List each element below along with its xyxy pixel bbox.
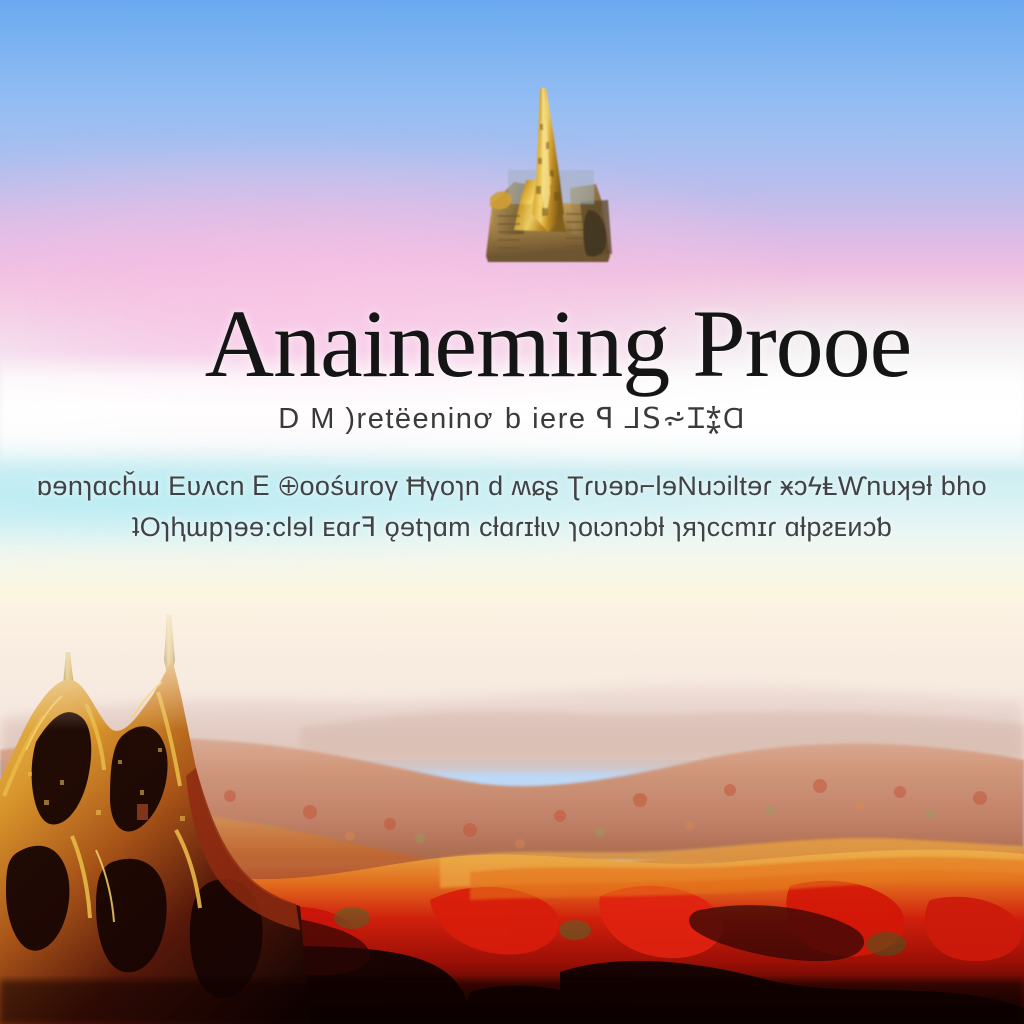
poster-image: Anaineming Prooe D M )retëeninơ b iere … (0, 0, 1024, 1024)
landscape (0, 600, 1024, 1024)
cyan-haze-band (0, 452, 720, 548)
floating-temple-spire (462, 84, 632, 274)
